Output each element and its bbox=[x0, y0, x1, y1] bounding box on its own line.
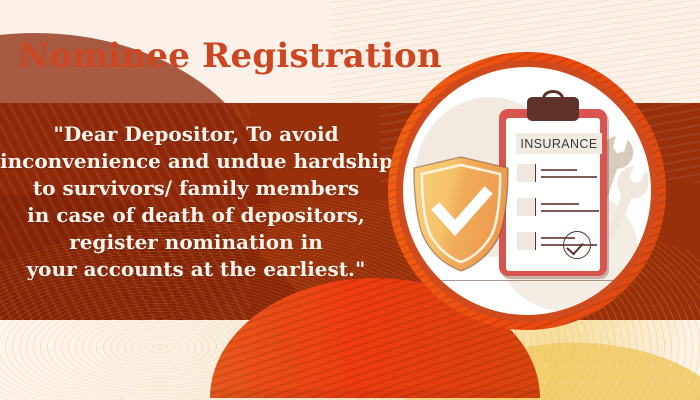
clipboard: INSURANCE bbox=[499, 109, 607, 276]
page-title: Nominee Registration bbox=[18, 36, 442, 76]
message-line: "Dear Depositor, To avoid bbox=[0, 121, 392, 148]
check-circle-icon bbox=[563, 231, 591, 259]
footer-band bbox=[0, 320, 700, 400]
clipboard-paper: INSURANCE bbox=[506, 118, 600, 271]
message-line: to survivors/ family members bbox=[0, 175, 392, 202]
illustration-circle: INSURANCE bbox=[396, 60, 658, 322]
clipboard-header-label: INSURANCE bbox=[516, 133, 602, 154]
checklist-line bbox=[541, 169, 577, 171]
nominee-registration-banner: Nominee Registration "Dear Depositor, To… bbox=[0, 0, 700, 400]
checklist-line bbox=[541, 176, 597, 178]
message-line: register nomination in bbox=[0, 229, 392, 256]
checklist-row bbox=[517, 198, 603, 216]
checklist-checkbox bbox=[517, 232, 536, 250]
illustration-floor-line bbox=[403, 280, 658, 282]
shield-check-icon bbox=[409, 155, 513, 273]
message-line: inconvenience and undue hardship bbox=[0, 148, 392, 175]
clipboard-clip bbox=[527, 97, 579, 121]
checklist-line bbox=[541, 210, 599, 212]
wrench-icon bbox=[606, 163, 648, 247]
message-text: "Dear Depositor, To avoid inconvenience … bbox=[0, 121, 392, 283]
checklist-checkbox bbox=[517, 198, 536, 216]
checklist-row bbox=[517, 164, 603, 182]
message-line: your accounts at the earliest." bbox=[0, 256, 392, 283]
message-line: in case of death of depositors, bbox=[0, 202, 392, 229]
checklist-line bbox=[541, 203, 579, 205]
checklist-checkbox bbox=[517, 164, 536, 182]
